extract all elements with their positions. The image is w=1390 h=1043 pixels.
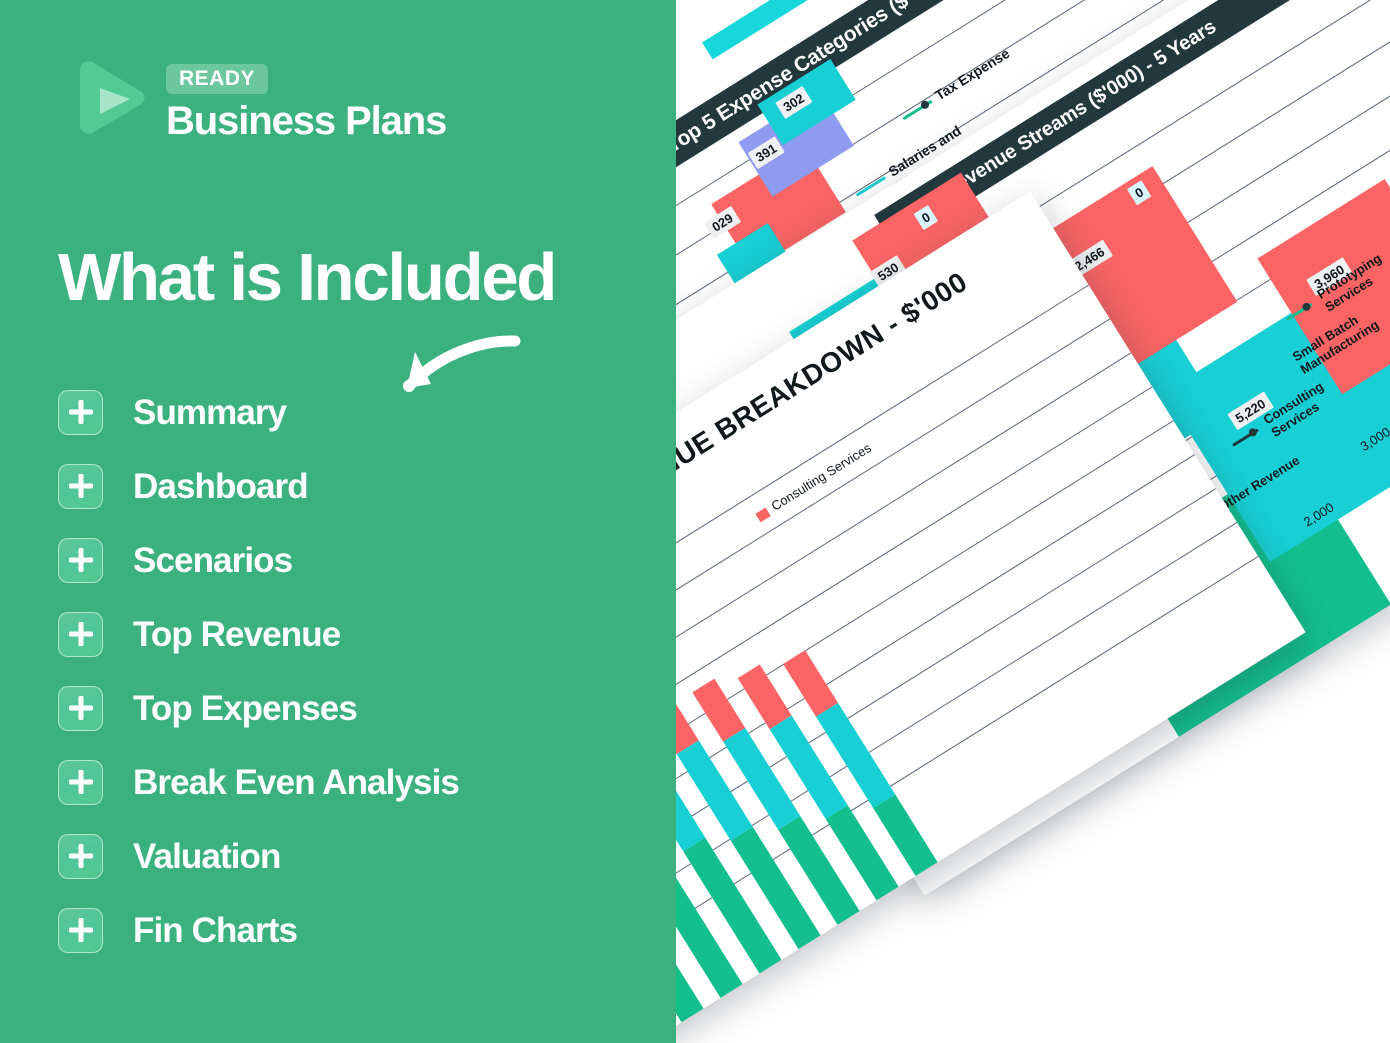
feature-item-top-revenue[interactable]: Top Revenue xyxy=(58,608,618,660)
plus-icon xyxy=(58,538,103,583)
plus-icon xyxy=(58,760,103,805)
feature-label: Top Expenses xyxy=(133,691,357,726)
feature-item-top-expenses[interactable]: Top Expenses xyxy=(58,682,618,734)
feature-label: Top Revenue xyxy=(133,617,340,652)
brand-name: Business Plans xyxy=(166,100,446,142)
feature-label: Summary xyxy=(133,395,286,430)
feature-label: Break Even Analysis xyxy=(133,765,459,800)
left-green-panel: READY Business Plans What is Included Su… xyxy=(0,0,676,1043)
spreadsheet-collage: Name Table of Contents 128.9 2028 2029 2… xyxy=(676,0,1390,1043)
feature-item-scenarios[interactable]: Scenarios xyxy=(58,534,618,586)
plus-icon xyxy=(58,390,103,435)
feature-item-fin-charts[interactable]: Fin Charts xyxy=(58,904,618,956)
plus-icon xyxy=(58,686,103,731)
play-triangle-icon xyxy=(72,58,146,136)
included-features-list: Summary Dashboard Scenarios Top Revenue … xyxy=(58,386,618,978)
feature-label: Dashboard xyxy=(133,469,308,504)
legend-label-tax-expense: Tax Expense xyxy=(932,45,1012,103)
feature-label: Scenarios xyxy=(133,543,292,578)
page-title: What is Included xyxy=(58,244,555,311)
feature-item-dashboard[interactable]: Dashboard xyxy=(58,460,618,512)
plus-icon xyxy=(58,834,103,879)
feature-label: Valuation xyxy=(133,839,281,874)
legend-marker-bd-consulting xyxy=(755,508,770,523)
feature-item-valuation[interactable]: Valuation xyxy=(58,830,618,882)
breakdown-bar-segment xyxy=(692,679,745,742)
legend-label-bd-consulting: Consulting Services xyxy=(768,440,873,514)
plus-icon xyxy=(58,612,103,657)
ready-badge: READY xyxy=(166,64,268,94)
plus-icon xyxy=(58,908,103,953)
feature-item-summary[interactable]: Summary xyxy=(58,386,618,438)
brand-text: READY Business Plans xyxy=(166,58,446,142)
breakdown-bar-segment xyxy=(783,650,838,716)
breakdown-bar-segment xyxy=(738,664,792,729)
promo-graphic: Name Table of Contents 128.9 2028 2029 2… xyxy=(0,0,1390,1043)
plus-icon xyxy=(58,464,103,509)
feature-label: Fin Charts xyxy=(133,913,297,948)
feature-item-break-even-analysis[interactable]: Break Even Analysis xyxy=(58,756,618,808)
brand-logo: READY Business Plans xyxy=(72,58,446,142)
